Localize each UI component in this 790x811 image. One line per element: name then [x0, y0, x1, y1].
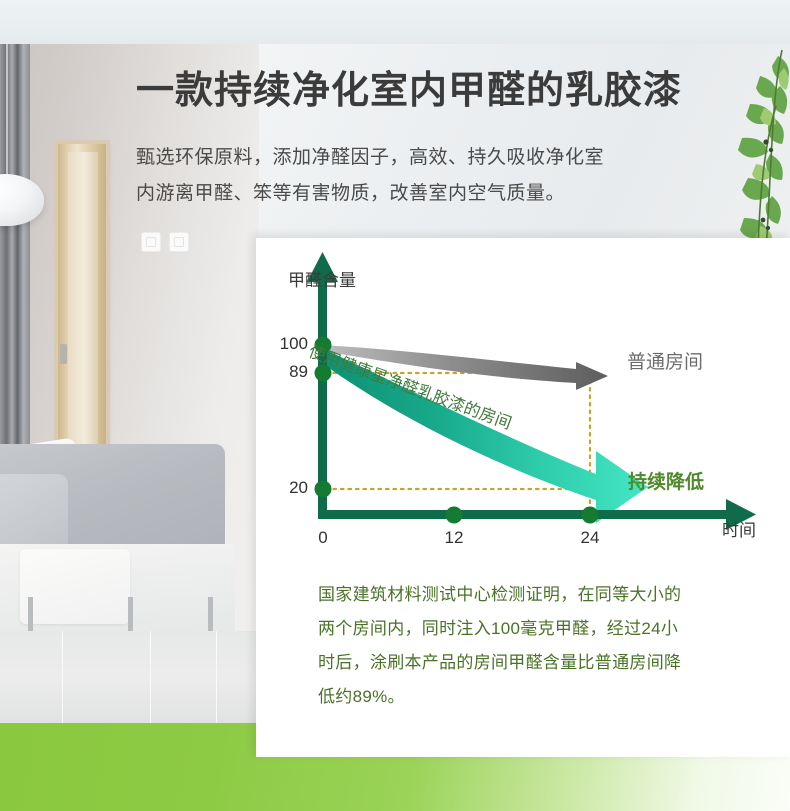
pendant-lamp	[0, 174, 44, 226]
lamp-cord	[6, 44, 8, 176]
x-axis	[318, 499, 756, 530]
y-axis-title: 甲醛含量	[288, 266, 356, 291]
x-tick-label: 12	[434, 528, 474, 548]
x-tick-label: 24	[570, 528, 610, 548]
caption-line: 时后，涂刷本产品的房间甲醛含量比普通房间降	[318, 646, 773, 680]
sofa-leg	[208, 597, 213, 631]
y-tick-label: 89	[256, 362, 308, 382]
subtitle-line: 内游离甲醛、笨等有害物质，改善室内空气质量。	[136, 176, 604, 212]
caption-line: 低约89%。	[318, 680, 773, 714]
page-root: 一款持续净化室内甲醛的乳胶漆 甄选环保原料，添加净醛因子，高效、持久吸收净化室 …	[0, 0, 790, 811]
page-title: 一款持续净化室内甲醛的乳胶漆	[136, 72, 682, 110]
y-axis	[307, 252, 338, 516]
x-axis-title: 时间	[722, 516, 756, 541]
sofa-leg	[128, 597, 133, 631]
continuous-drop-label: 持续降低	[628, 467, 704, 494]
chart-card: 甲醛含量 时间 100 89 20 0 12 24 普通房间 持续降低 使用健康…	[256, 238, 790, 757]
caption-line: 两个房间内，同时注入100毫克甲醛，经过24小	[318, 612, 773, 646]
sofa-cushion	[20, 549, 130, 624]
wall-switch-plate	[142, 233, 160, 251]
sofa-leg	[28, 597, 33, 631]
door-panel	[68, 152, 98, 444]
chart-caption: 国家建筑材料测试中心检测证明，在同等大小的 两个房间内，同时注入100毫克甲醛，…	[318, 578, 773, 714]
door-frame	[58, 144, 106, 444]
y-tick-label: 100	[256, 334, 308, 354]
y-tick-label: 20	[256, 478, 308, 498]
formaldehyde-chart: 甲醛含量 时间 100 89 20 0 12 24 普通房间 持续降低 使用健康…	[256, 238, 790, 568]
x-tick-label: 0	[303, 528, 343, 548]
floor	[0, 631, 259, 723]
page-subtitle: 甄选环保原料，添加净醛因子，高效、持久吸收净化室 内游离甲醛、笨等有害物质，改善…	[136, 140, 604, 212]
caption-line: 国家建筑材料测试中心检测证明，在同等大小的	[318, 578, 773, 612]
ordinary-room-label: 普通房间	[627, 347, 703, 374]
door-handle	[60, 344, 67, 364]
subtitle-line: 甄选环保原料，添加净醛因子，高效、持久吸收净化室	[136, 140, 604, 176]
wall-switch-plate	[170, 233, 188, 251]
top-white-strip	[0, 0, 790, 45]
